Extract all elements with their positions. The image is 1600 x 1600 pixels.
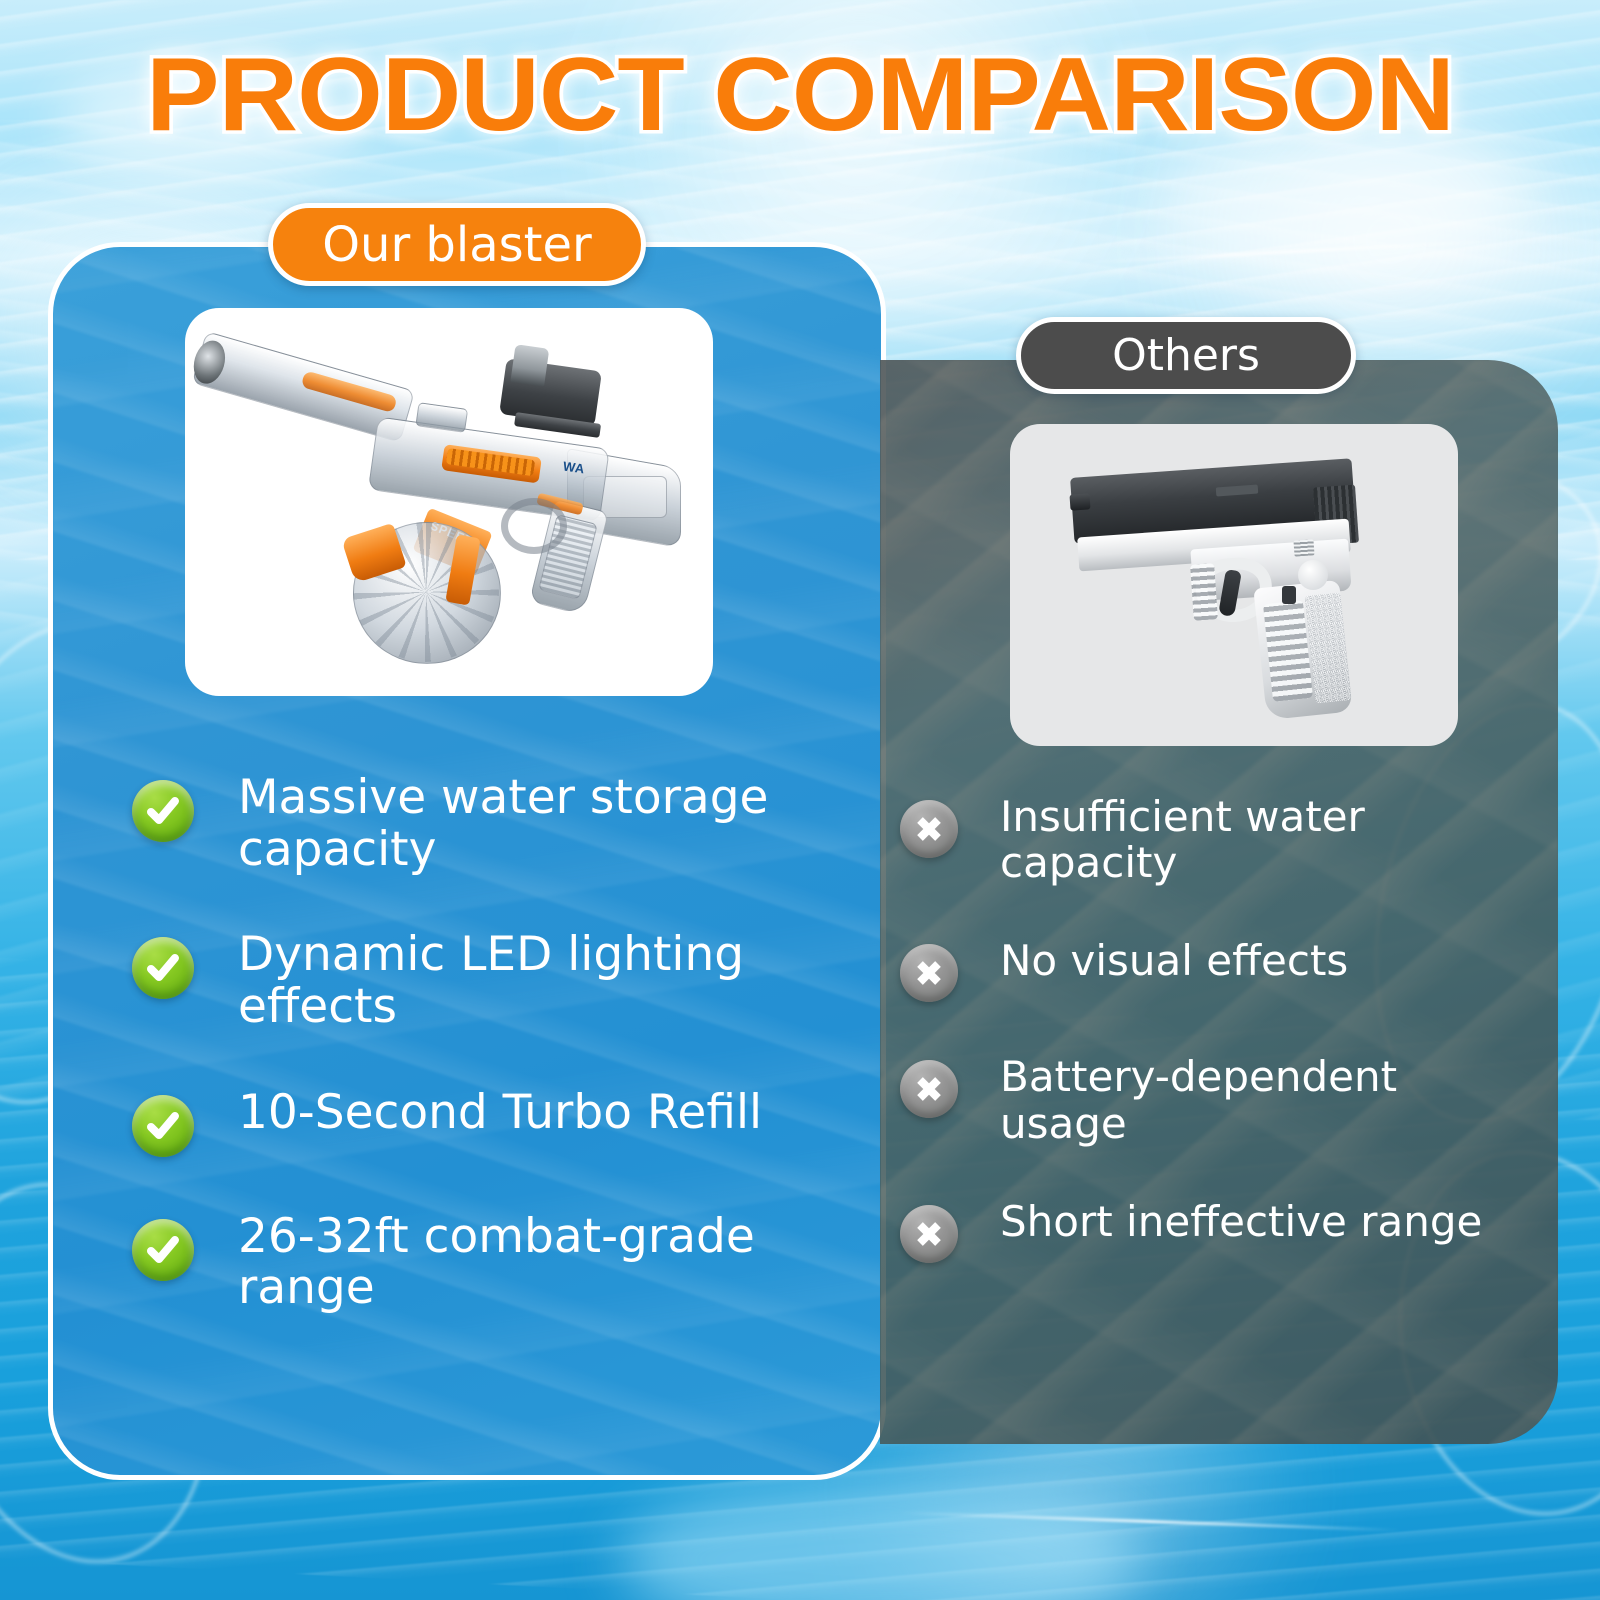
badge-our-blaster[interactable]: Our blaster: [268, 203, 646, 286]
list-item-label: Dynamic LED lighting effects: [238, 929, 832, 1032]
list-item: Battery-dependent usage: [900, 1060, 1520, 1146]
badge-others[interactable]: Others: [1016, 317, 1356, 394]
check-icon: [132, 1219, 194, 1281]
feature-list-our-blaster: Massive water storage capacity Dynamic L…: [132, 780, 832, 1376]
list-item-label: 26-32ft combat-grade range: [238, 1211, 832, 1314]
list-item: No visual effects: [900, 944, 1520, 1002]
product-image-others: [1010, 424, 1458, 746]
list-item-label: 10-Second Turbo Refill: [238, 1087, 762, 1139]
list-item: Short ineffective range: [900, 1205, 1520, 1263]
list-item: Insufficient water capacity: [900, 800, 1520, 886]
list-item: Massive water storage capacity: [132, 780, 832, 875]
check-icon: [132, 1095, 194, 1157]
check-icon: [132, 780, 194, 842]
list-item: 10-Second Turbo Refill: [132, 1095, 832, 1157]
list-item-label: No visual effects: [1000, 938, 1348, 984]
list-item-label: Battery-dependent usage: [1000, 1054, 1520, 1146]
cross-icon: [900, 800, 958, 858]
page-title: PRODUCT COMPARISON: [0, 36, 1600, 155]
list-item: 26-32ft combat-grade range: [132, 1219, 832, 1314]
cross-icon: [900, 1205, 958, 1263]
list-item-label: Short ineffective range: [1000, 1199, 1482, 1245]
list-item-label: Insufficient water capacity: [1000, 794, 1520, 886]
check-icon: [132, 937, 194, 999]
list-item: Dynamic LED lighting effects: [132, 937, 832, 1032]
product-image-our-blaster: SPEED WA: [185, 308, 713, 696]
cross-icon: [900, 944, 958, 1002]
cross-icon: [900, 1060, 958, 1118]
list-item-label: Massive water storage capacity: [238, 772, 832, 875]
feature-list-others: Insufficient water capacity No visual ef…: [900, 800, 1520, 1321]
